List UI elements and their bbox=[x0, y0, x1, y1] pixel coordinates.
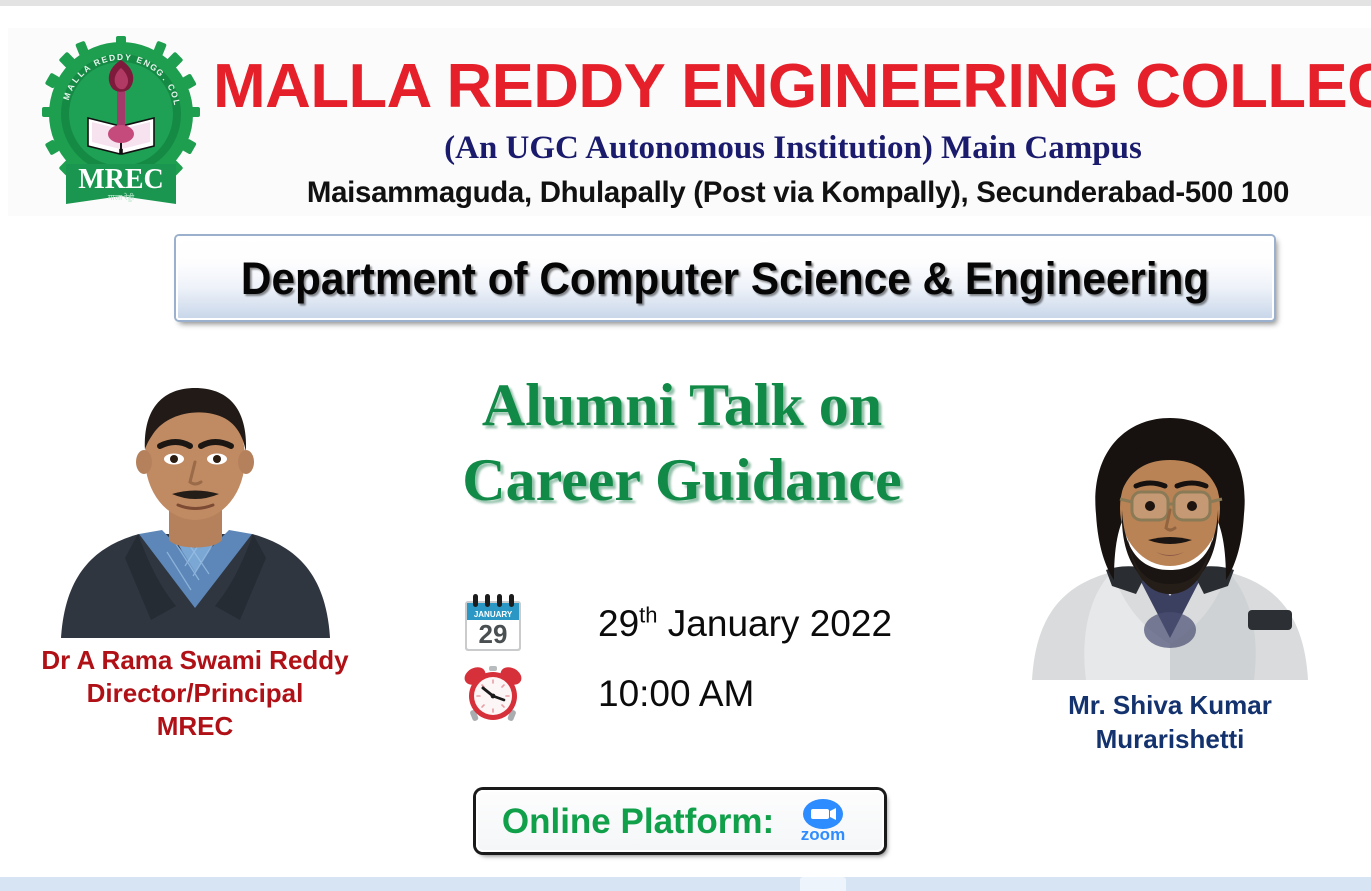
online-platform-label: Online Platform: bbox=[502, 804, 774, 839]
college-subtitle: (An UGC Autonomous Institution) Main Cam… bbox=[213, 132, 1371, 165]
event-date-rest: January 2022 bbox=[658, 603, 893, 644]
event-date-row: JANUARY 29 29th January 2022 bbox=[462, 588, 932, 658]
mrec-seal-logo-icon: MREC माला रेड्डी M A L L A R E D D bbox=[36, 36, 206, 208]
speaker-left-name: Dr A Rama Swami Reddy bbox=[35, 644, 355, 677]
department-banner: Department of Computer Science & Enginee… bbox=[176, 236, 1274, 320]
speaker-right-name-line1: Mr. Shiva Kumar bbox=[1005, 688, 1335, 722]
event-title: Alumni Talk on Career Guidance bbox=[392, 368, 972, 518]
bottom-chrome-nub bbox=[800, 877, 846, 891]
letterhead-text-block: MALLA REDDY ENGINEERING COLLEGE (An UGC … bbox=[213, 28, 1371, 216]
speaker-right-caption: Mr. Shiva Kumar Murarishetti bbox=[1005, 688, 1335, 756]
svg-text:D: D bbox=[117, 52, 123, 62]
zoom-wordmark: zoom bbox=[801, 825, 845, 844]
college-name: MALLA REDDY ENGINEERING COLLEGE bbox=[213, 56, 1371, 118]
event-time-text: 10:00 AM bbox=[540, 675, 754, 712]
event-date-text: 29th January 2022 bbox=[540, 605, 892, 642]
speaker-right-photo bbox=[1020, 398, 1320, 680]
top-chrome-strip bbox=[0, 0, 1371, 6]
zoom-logo-icon[interactable]: zoom bbox=[788, 798, 858, 844]
event-date-suffix: th bbox=[639, 602, 657, 627]
speaker-left-designation: Director/Principal bbox=[35, 677, 355, 710]
event-title-line1: Alumni Talk on bbox=[392, 368, 972, 443]
calendar-month-label: JANUARY bbox=[474, 610, 513, 619]
college-address: Maisammaguda, Dhulapally (Post via Kompa… bbox=[225, 178, 1371, 208]
online-platform-box: Online Platform: zoom bbox=[476, 790, 884, 852]
speaker-left-photo bbox=[43, 358, 348, 638]
calendar-icon: JANUARY 29 bbox=[462, 592, 540, 654]
event-details: JANUARY 29 29th January 2022 bbox=[462, 588, 932, 728]
speaker-left-organization: MREC bbox=[35, 710, 355, 743]
college-letterhead: MREC माला रेड्डी M A L L A R E D D bbox=[8, 28, 1371, 216]
svg-text:माला रेड्डी: माला रेड्डी bbox=[108, 192, 135, 202]
seal-banner-text: MREC bbox=[78, 164, 164, 195]
event-time-row: 10:00 AM bbox=[462, 658, 932, 728]
speaker-right: Mr. Shiva Kumar Murarishetti bbox=[1005, 398, 1335, 756]
event-title-line2: Career Guidance bbox=[392, 443, 972, 518]
calendar-day-label: 29 bbox=[479, 619, 508, 649]
speaker-left: Dr A Rama Swami Reddy Director/Principal… bbox=[35, 358, 355, 743]
bottom-chrome-strip bbox=[0, 877, 1371, 891]
alarm-clock-icon bbox=[462, 662, 540, 724]
event-date-day: 29 bbox=[598, 603, 639, 644]
speaker-right-name-line2: Murarishetti bbox=[1005, 722, 1335, 756]
department-banner-label: Department of Computer Science & Enginee… bbox=[241, 256, 1209, 301]
speaker-left-caption: Dr A Rama Swami Reddy Director/Principal… bbox=[35, 644, 355, 743]
poster-canvas: MREC माला रेड्डी M A L L A R E D D bbox=[0, 0, 1371, 891]
